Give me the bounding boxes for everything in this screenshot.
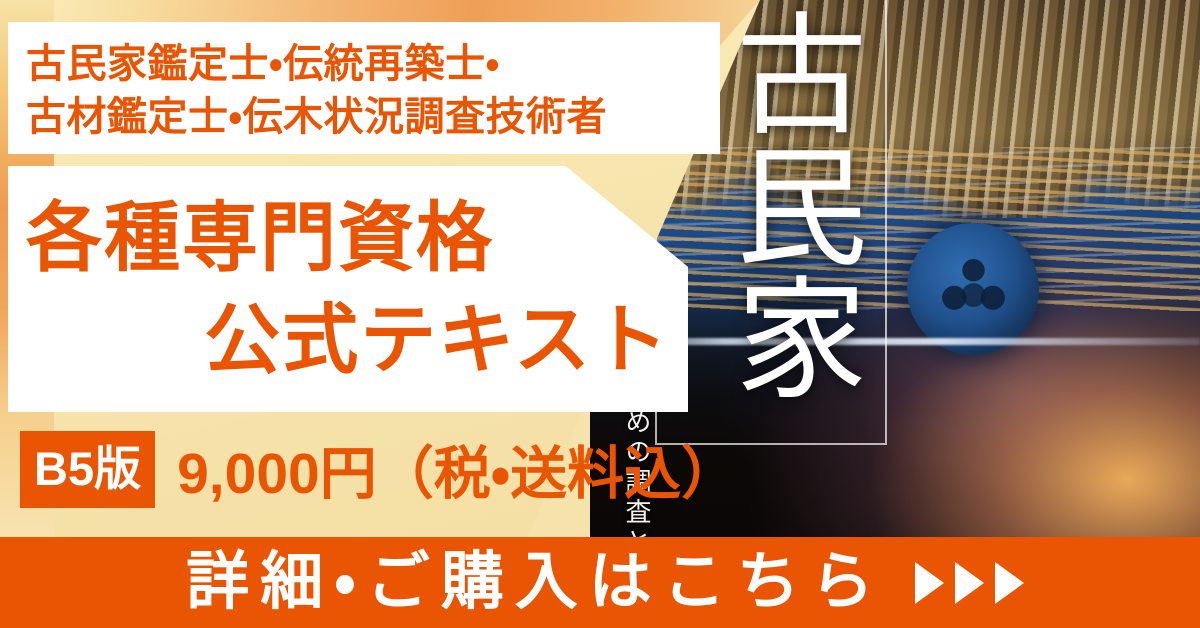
certification-line-1: 古民家鑑定士・伝統再築士・ — [26, 38, 712, 91]
cta-arrows — [915, 562, 1024, 604]
triangle-right-icon — [915, 562, 944, 604]
cta-label: 詳細・ご購入はこちら — [176, 551, 884, 614]
family-crest-medallion — [907, 223, 1039, 355]
headline-line-1: 各種専門資格 — [26, 188, 676, 290]
triangle-right-icon — [955, 562, 984, 604]
certifications-panel: 古民家鑑定士・伝統再築士・ 古材鑑定士・伝木状況調査技術者 — [8, 22, 720, 154]
price-text: 9,000円（税・送料込） — [177, 428, 738, 510]
certification-line-2: 古材鑑定士・伝木状況調査技術者 — [26, 91, 712, 144]
format-badge: B5版 — [20, 431, 155, 508]
headline-panel: 各種専門資格 公式テキスト — [8, 166, 688, 412]
cta-button[interactable]: 詳細・ご購入はこちら — [0, 537, 1200, 628]
promo-banner: 古民家 伝統構法 古民家活用のための調査と再生の 古民家鑑定士・伝統再築士・ 古… — [0, 0, 1200, 628]
price-row: B5版 9,000円（税・送料込） — [20, 428, 738, 510]
triangle-right-icon — [995, 562, 1024, 604]
page-title: 各種専門資格 公式テキスト — [26, 188, 676, 392]
headline-line-2: 公式テキスト — [26, 290, 676, 392]
certifications-text: 古民家鑑定士・伝統再築士・ 古材鑑定士・伝木状況調査技術者 — [26, 38, 712, 144]
